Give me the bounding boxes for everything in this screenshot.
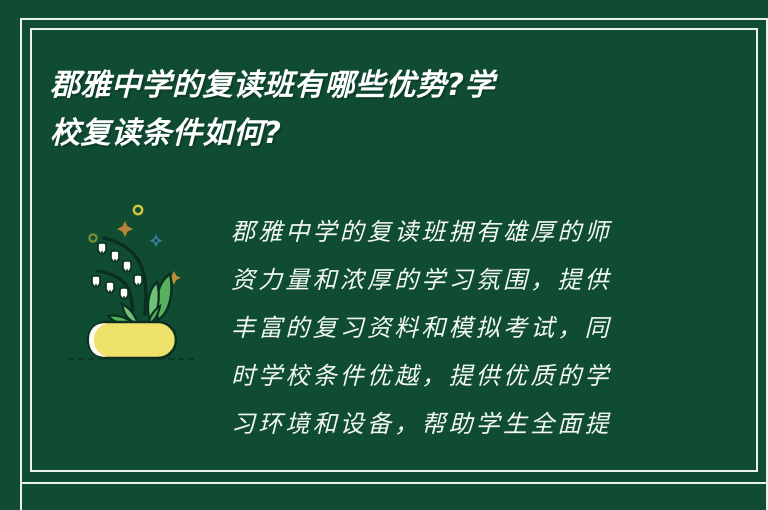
body-line-2: 资力量和浓厚的学习氛围，提供	[231, 256, 651, 304]
sparkle-dot-olive	[89, 234, 96, 241]
article-body: 郡雅中学的复读班拥有雄厚的师 资力量和浓厚的学习氛围，提供 丰富的复习资料和模拟…	[231, 208, 651, 448]
title-line-2: 校复读条件如何?	[50, 110, 710, 158]
lily-of-the-valley-icon	[62, 196, 212, 368]
poster-card: 郡雅中学的复读班有哪些优势?学 校复读条件如何?	[0, 0, 768, 510]
sparkle-star-blue	[149, 234, 162, 247]
body-line-4: 时学校条件优越，提供优质的学	[231, 352, 651, 400]
body-line-5: 习环境和设备，帮助学生全面提	[231, 400, 651, 448]
flower-pot	[88, 322, 176, 358]
body-line-1: 郡雅中学的复读班拥有雄厚的师	[231, 208, 651, 256]
frame-outer-border-bottom	[20, 482, 768, 484]
page-title: 郡雅中学的复读班有哪些优势?学 校复读条件如何?	[50, 62, 710, 158]
body-line-3: 丰富的复习资料和模拟考试，同	[231, 304, 651, 352]
sparkle-dot-yellow	[134, 206, 142, 214]
title-line-1: 郡雅中学的复读班有哪些优势?学	[50, 62, 710, 110]
ground-line	[68, 358, 194, 360]
sparkle-diamond-orange	[117, 221, 133, 237]
